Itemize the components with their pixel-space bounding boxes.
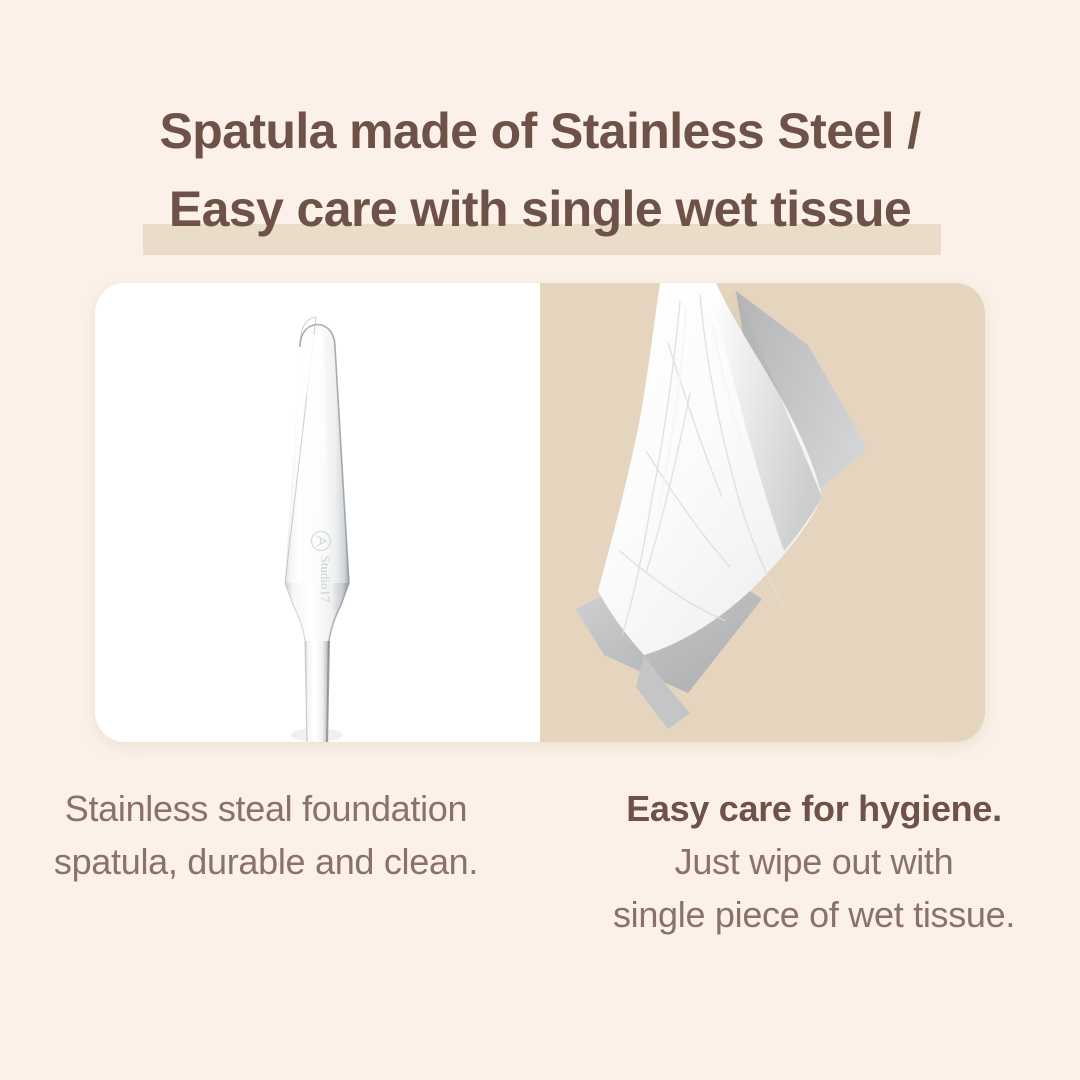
spatula-image-panel: Studio17: [95, 283, 540, 742]
wet-tissue-image-panel: [540, 283, 985, 742]
page-title: Spatula made of Stainless Steel / Easy c…: [0, 92, 1080, 248]
caption-tissue-line-1: Just wipe out with: [548, 835, 1080, 888]
wet-tissue-image: [540, 283, 985, 742]
stainless-steel-spatula-image: Studio17: [95, 283, 540, 742]
caption-tissue-line-2: single piece of wet tissue.: [548, 888, 1080, 941]
caption-spatula-line-2: spatula, durable and clean.: [0, 835, 532, 888]
spatula-neck: [285, 583, 349, 641]
caption-tissue-headline: Easy care for hygiene.: [548, 782, 1080, 835]
page-title-line-1-text: Spatula made of Stainless Steel /: [159, 103, 920, 159]
page-title-line-2-text: Easy care with single wet tissue: [169, 181, 911, 237]
caption-tissue: Easy care for hygiene. Just wipe out wit…: [540, 782, 1080, 941]
caption-spatula-line-1: Stainless steal foundation: [0, 782, 532, 835]
page-title-line-1: Spatula made of Stainless Steel /: [0, 92, 1080, 170]
spatula-handle: [305, 641, 329, 742]
product-feature-card: Spatula made of Stainless Steel / Easy c…: [0, 0, 1080, 1080]
spatula-engraved-brand: Studio17: [318, 556, 333, 603]
caption-spatula: Stainless steal foundation spatula, dura…: [0, 782, 540, 941]
image-panel-group: Studio17: [95, 283, 985, 742]
caption-group: Stainless steal foundation spatula, dura…: [0, 782, 1080, 941]
